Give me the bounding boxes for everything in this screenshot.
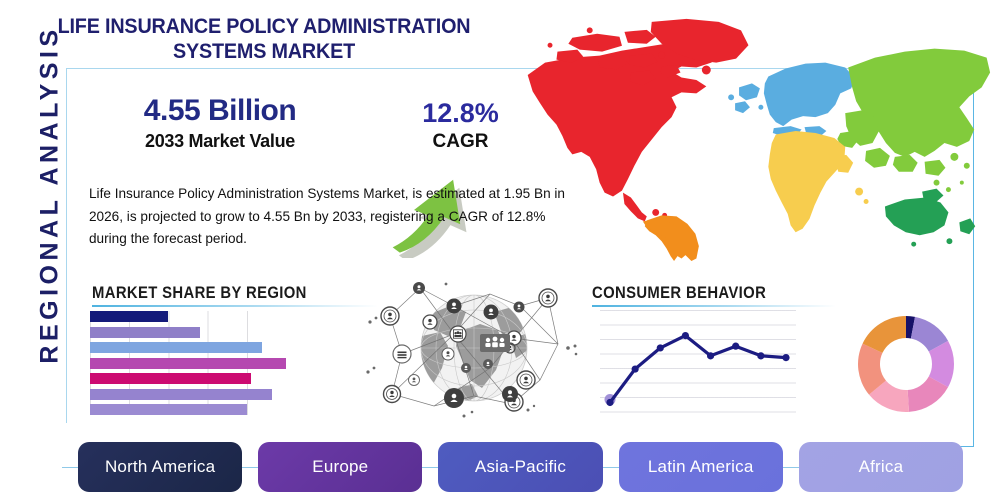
bar-chart-row: [90, 404, 286, 415]
bar-chart-row: [90, 358, 286, 369]
bar-chart-bar: [90, 358, 286, 369]
region-pill-north-america[interactable]: North America: [78, 442, 242, 492]
line-chart-point: [657, 344, 664, 351]
market-description: Life Insurance Policy Administration Sys…: [89, 183, 577, 251]
bar-chart-bar: [90, 311, 168, 322]
consumer-behavior-line-chart: [600, 310, 796, 414]
bar-chart-bar: [90, 389, 272, 400]
section-header-market-share: MARKET SHARE BY REGION: [92, 283, 382, 307]
panel-border-left: [66, 68, 67, 423]
line-chart-point: [757, 352, 764, 359]
regional-split-donut-chart: [853, 311, 959, 417]
line-chart-point: [707, 352, 714, 359]
line-chart-point: [632, 365, 639, 372]
region-pill-africa[interactable]: Africa: [799, 442, 963, 492]
pill-connector: [242, 467, 258, 468]
donut-chart-plot: [853, 311, 959, 417]
bar-chart-bar: [90, 404, 247, 415]
line-chart-plot: [600, 310, 796, 414]
cagr-caption: CAGR: [398, 130, 523, 153]
section-rule-consumer-behavior: [592, 305, 836, 307]
global-network-people-icon: [362, 276, 582, 421]
pill-connector: [783, 467, 799, 468]
cagr-block: 12.8% CAGR: [398, 96, 523, 153]
bar-chart-row: [90, 311, 286, 322]
bar-chart-row: [90, 373, 286, 384]
line-chart-point: [732, 343, 739, 350]
bar-chart-row: [90, 389, 286, 400]
region-nav-bar: North AmericaEuropeAsia-PacificLatin Ame…: [78, 442, 963, 492]
bar-chart-bar: [90, 373, 251, 384]
cagr-value: 12.8%: [398, 96, 523, 130]
market-share-bar-chart: [90, 311, 286, 415]
line-chart-point: [782, 354, 789, 361]
line-chart-point: [682, 332, 689, 339]
bar-chart-bar: [90, 342, 262, 353]
pill-connector: [603, 467, 619, 468]
pill-connector: [422, 467, 438, 468]
market-value-caption: 2033 Market Value: [105, 130, 335, 152]
section-title-consumer-behavior: CONSUMER BEHAVIOR: [592, 283, 835, 303]
section-rule-market-share: [92, 305, 378, 307]
section-title-market-share: MARKET SHARE BY REGION: [92, 283, 353, 303]
page-title: LIFE INSURANCE POLICY ADMINISTRATION SYS…: [28, 14, 499, 64]
bar-chart-row: [90, 327, 286, 338]
market-value: 4.55 Billion: [105, 92, 335, 130]
bar-chart-row: [90, 342, 286, 353]
region-pill-europe[interactable]: Europe: [258, 442, 422, 492]
market-value-block: 4.55 Billion 2033 Market Value: [105, 92, 335, 152]
region-pill-latin-america[interactable]: Latin America: [619, 442, 783, 492]
region-pill-asia-pacific[interactable]: Asia-Pacific: [438, 442, 602, 492]
bar-chart-rows: [90, 311, 286, 415]
bar-chart-bar: [90, 327, 200, 338]
line-chart-point: [606, 399, 613, 406]
section-header-consumer-behavior: CONSUMER BEHAVIOR: [592, 283, 862, 307]
key-stats-row: 4.55 Billion 2033 Market Value 12.8% CAG…: [80, 92, 510, 167]
